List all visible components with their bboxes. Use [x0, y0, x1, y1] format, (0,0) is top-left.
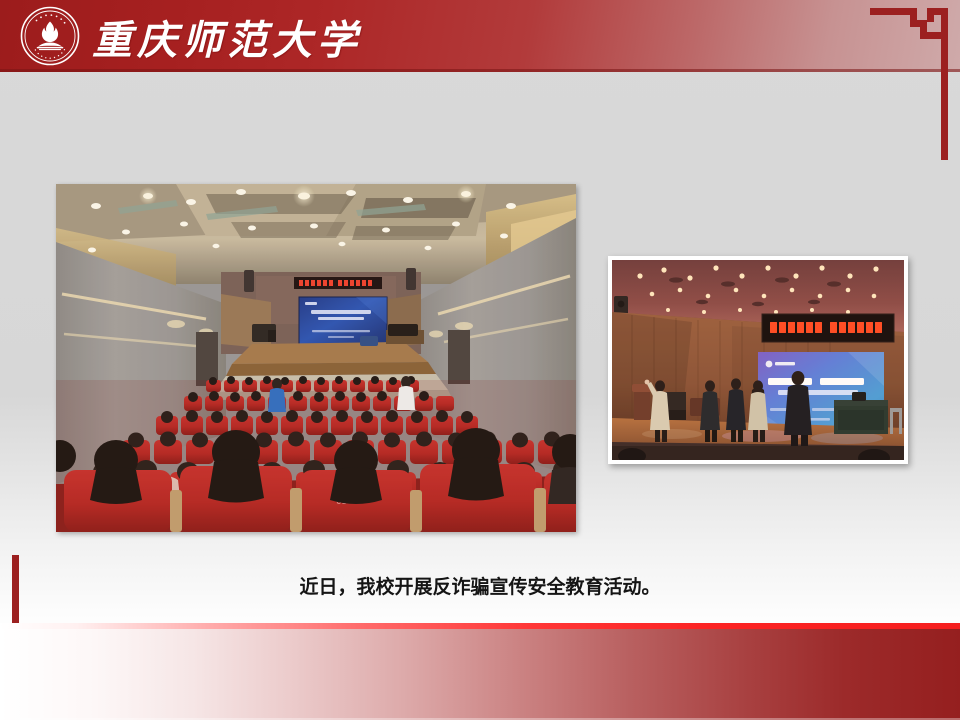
slide-caption: 近日，我校开展反诈骗宣传安全教育活动。: [0, 572, 960, 599]
university-name-title: 重庆师范大学: [92, 8, 362, 66]
auditorium-audience-photo: 01 03 05 07: [56, 184, 576, 532]
presentation-slide: 重庆师范大学: [0, 0, 960, 720]
header-banner: 重庆师范大学: [0, 0, 960, 72]
chinese-corner-ornament-top-right: [870, 0, 948, 165]
stage-speakers-photo: [608, 256, 908, 464]
university-seal-icon: [20, 6, 80, 66]
footer-gradient-band: [0, 629, 960, 720]
